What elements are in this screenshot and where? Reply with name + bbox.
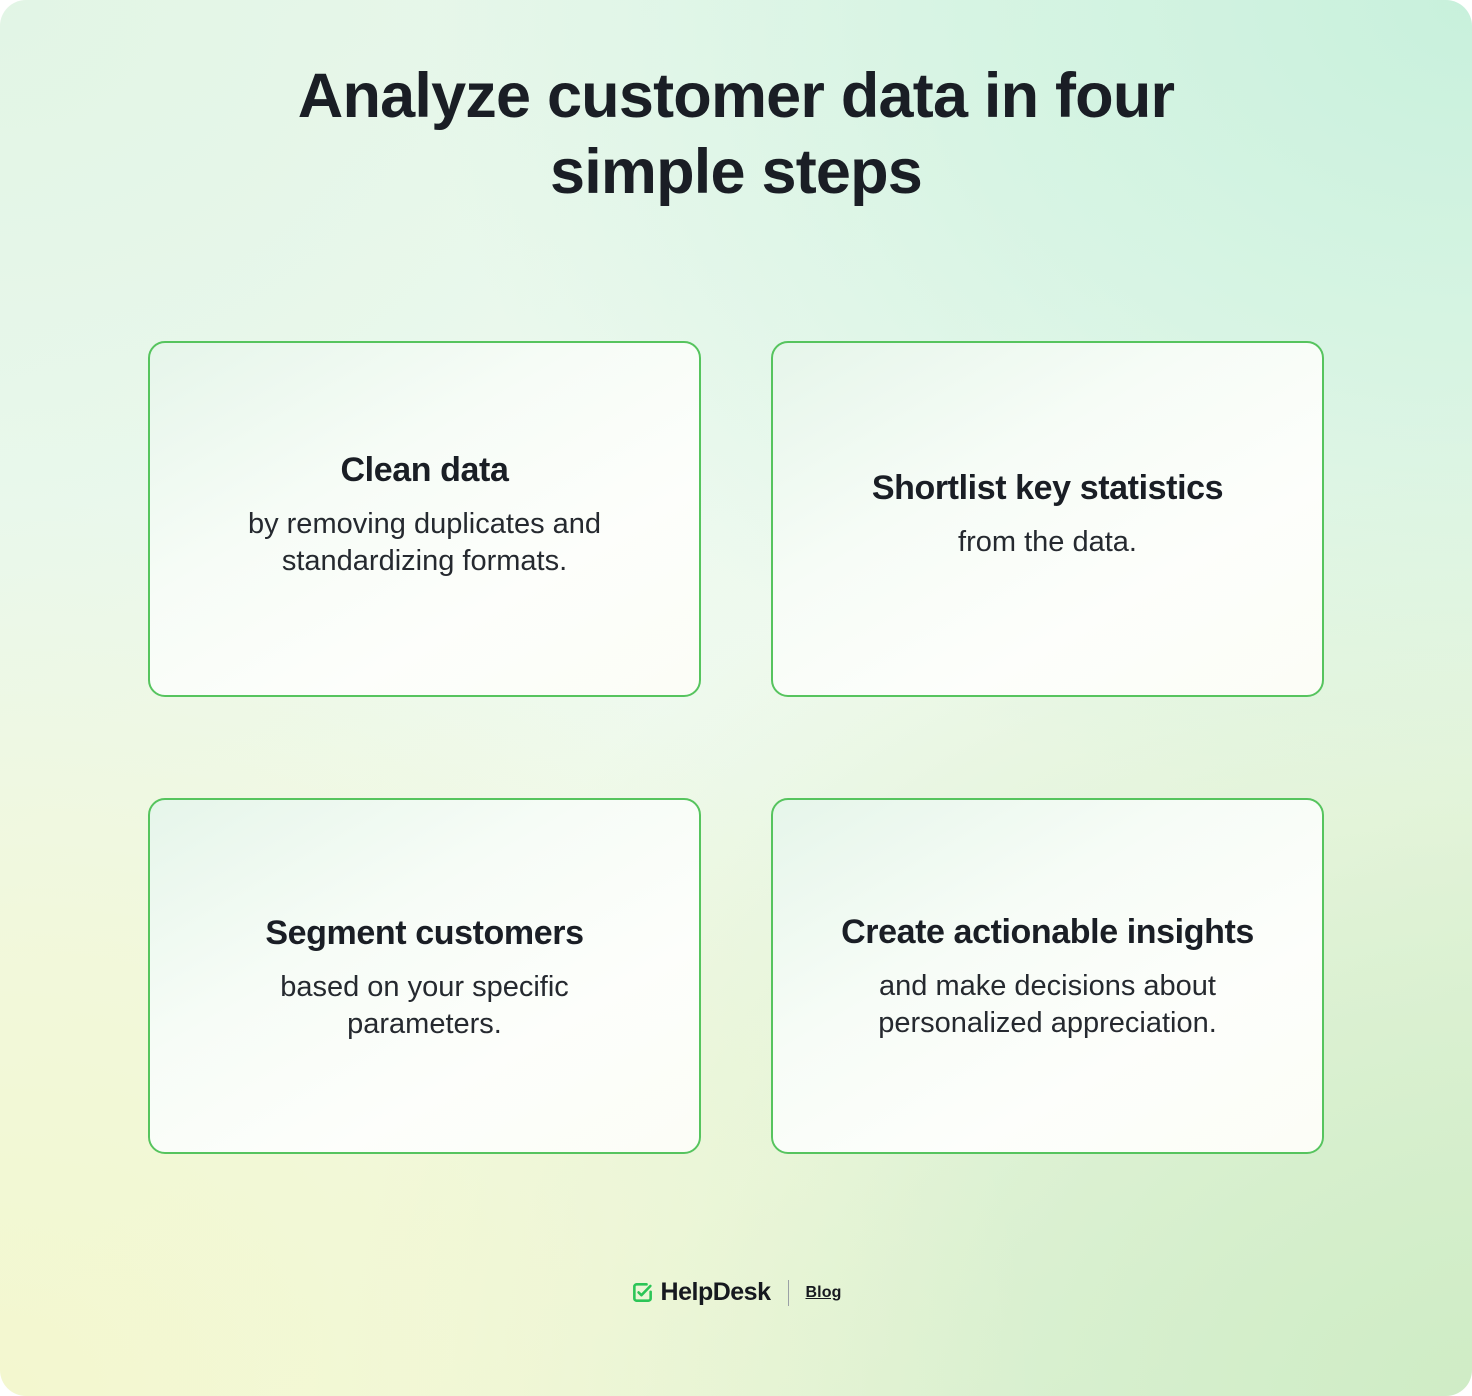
page-title: Analyze customer data in four simple ste…	[231, 58, 1241, 210]
step-card-segment-customers: Segment customers based on your specific…	[148, 798, 701, 1154]
step-card-body: and make decisions about personalized ap…	[838, 968, 1258, 1042]
step-card-body: from the data.	[958, 524, 1137, 561]
step-card-heading: Clean data	[341, 450, 509, 490]
footer: HelpDesk Blog	[0, 1278, 1472, 1307]
footer-link-blog[interactable]: Blog	[806, 1284, 842, 1302]
step-card-create-actionable-insights: Create actionable insights and make deci…	[771, 798, 1324, 1154]
helpdesk-logo: HelpDesk	[631, 1278, 771, 1307]
checkbox-check-icon	[631, 1281, 654, 1304]
title-section: Analyze customer data in four simple ste…	[0, 0, 1472, 210]
step-card-clean-data: Clean data by removing duplicates and st…	[148, 341, 701, 697]
step-card-heading: Segment customers	[265, 913, 583, 953]
step-card-body: by removing duplicates and standardizing…	[215, 506, 635, 580]
steps-grid: Clean data by removing duplicates and st…	[148, 341, 1324, 1154]
step-card-body: based on your specific parameters.	[215, 969, 635, 1043]
footer-divider	[788, 1280, 789, 1306]
brand-name: HelpDesk	[661, 1278, 771, 1307]
step-card-heading: Create actionable insights	[841, 912, 1254, 952]
step-card-shortlist-key-statistics: Shortlist key statistics from the data.	[771, 341, 1324, 697]
infographic-canvas: Analyze customer data in four simple ste…	[0, 0, 1472, 1396]
step-card-heading: Shortlist key statistics	[872, 468, 1223, 508]
